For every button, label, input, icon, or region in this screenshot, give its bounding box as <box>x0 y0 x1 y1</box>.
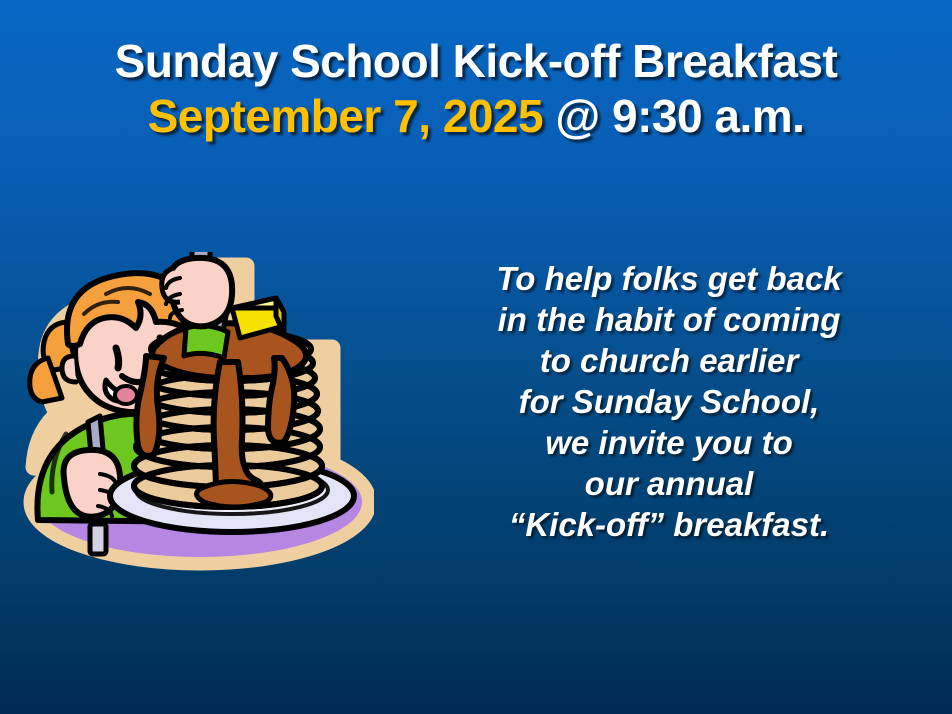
right-fist <box>162 258 232 326</box>
pancake-breakfast-illustration <box>14 252 374 574</box>
event-title: Sunday School Kick-off Breakfast <box>0 38 952 85</box>
message-line-6: our annual <box>404 463 934 504</box>
message-line-7: “Kick-off” breakfast. <box>404 504 934 545</box>
message-line-3: to church earlier <box>404 340 934 381</box>
message-line-4: for Sunday School, <box>404 381 934 422</box>
child-eating-pancakes-icon <box>14 252 374 574</box>
message-line-1: To help folks get back <box>404 258 934 299</box>
event-datetime-line: September 7, 2025 @ 9:30 a.m. <box>0 93 952 140</box>
invitation-message: To help folks get back in the habit of c… <box>404 258 934 545</box>
message-line-2: in the habit of coming <box>404 299 934 340</box>
event-time: @ 9:30 a.m. <box>543 90 804 142</box>
message-line-5: we invite you to <box>404 422 934 463</box>
title-block: Sunday School Kick-off Breakfast Septemb… <box>0 38 952 140</box>
event-date: September 7, 2025 <box>148 90 544 142</box>
slide-canvas: Sunday School Kick-off Breakfast Septemb… <box>0 0 952 714</box>
right-sleeve <box>184 326 228 358</box>
